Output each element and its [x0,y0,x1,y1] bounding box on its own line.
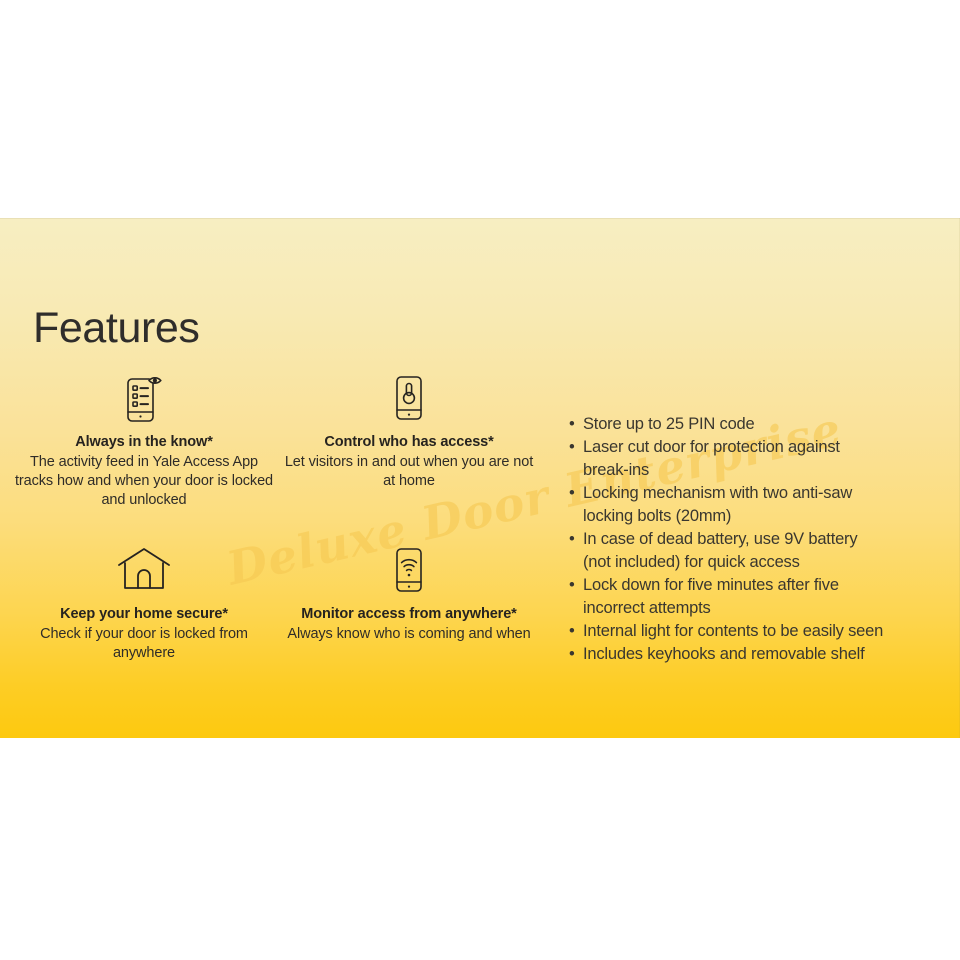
phone-keyhole-icon [282,372,536,428]
feature-item-keep-your-home-secure: Keep your home secure* Check if your doo… [10,544,278,663]
banner-top-divider [0,218,960,219]
feature-title: Control who has access* [282,434,536,450]
list-item: Internal light for contents to be easily… [568,620,888,643]
feature-description: Always know who is coming and when [282,625,536,644]
list-item: Locking mechanism with two anti-saw lock… [568,482,888,527]
feature-item-always-in-the-know: Always in the know* The activity feed in… [10,372,278,544]
feature-item-control-who-has-access: Control who has access* Let visitors in … [278,372,540,544]
house-icon [14,544,274,600]
feature-title: Always in the know* [14,434,274,450]
feature-title: Keep your home secure* [14,606,274,622]
feature-description: Check if your door is locked from anywhe… [14,625,274,663]
list-item: Includes keyhooks and removable shelf [568,643,888,666]
phone-wifi-icon [282,544,536,600]
feature-description: The activity feed in Yale Access App tra… [14,453,274,510]
list-item: Store up to 25 PIN code [568,413,888,436]
list-item: In case of dead battery, use 9V battery … [568,528,888,573]
feature-item-monitor-access-from-anywhere: Monitor access from anywhere* Always kno… [278,544,540,663]
specs-bullet-list: Store up to 25 PIN code Laser cut door f… [568,413,888,666]
feature-grid: Always in the know* The activity feed in… [10,372,540,663]
list-item: Lock down for five minutes after five in… [568,574,888,619]
feature-title: Monitor access from anywhere* [282,606,536,622]
list-item: Laser cut door for protection against br… [568,436,888,481]
phone-activity-feed-icon [14,372,274,428]
page-title: Features [33,307,200,350]
feature-description: Let visitors in and out when you are not… [282,453,536,491]
